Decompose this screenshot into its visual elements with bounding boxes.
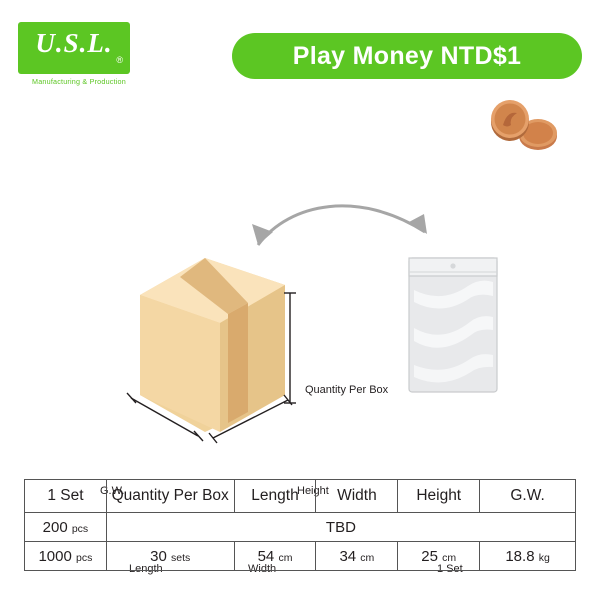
height-value: 25	[421, 548, 438, 565]
set-value: 1000	[38, 548, 71, 565]
width-unit: cm	[360, 552, 374, 564]
logo-badge: U.S.L. ®	[18, 22, 130, 74]
header-width: Width	[316, 480, 398, 513]
length-unit: cm	[278, 552, 292, 564]
width-value: 34	[339, 548, 356, 565]
set-value: 200	[43, 519, 68, 536]
header-gw: G.W.	[480, 480, 576, 513]
cell-set-count: 200 pcs	[25, 513, 107, 542]
length-value: 54	[258, 548, 275, 565]
cell-tbd: TBD	[106, 513, 575, 542]
cell-gw: 18.8 kg	[480, 542, 576, 571]
cell-height: 25 cm	[398, 542, 480, 571]
height-unit: cm	[442, 552, 456, 564]
table-header-row: 1 Set Quantity Per Box Length Width Heig…	[25, 480, 576, 513]
table-row: 200 pcs TBD	[25, 513, 576, 542]
page-title: Play Money NTD$1	[232, 33, 582, 79]
specification-table: 1 Set Quantity Per Box Length Width Heig…	[24, 479, 576, 571]
coins-icon	[486, 92, 572, 154]
gw-unit: kg	[539, 552, 550, 564]
product-illustration: Quantity Per Box G.W. Height Length Widt…	[0, 160, 600, 460]
table-row: 1000 pcs 30 sets 54 cm 34 cm 25 cm 18.8 …	[25, 542, 576, 571]
cell-width: 34 cm	[316, 542, 398, 571]
header-length: Length	[234, 480, 316, 513]
company-logo: U.S.L. ® Manufacturing & Production	[18, 22, 140, 86]
header-height: Height	[398, 480, 480, 513]
cell-set-count: 1000 pcs	[25, 542, 107, 571]
cell-length: 54 cm	[234, 542, 316, 571]
set-unit: pcs	[72, 523, 88, 535]
logo-name: U.S.L.	[18, 28, 130, 59]
qpb-value: 30	[150, 548, 167, 565]
qpb-unit: sets	[171, 552, 190, 564]
set-unit: pcs	[76, 552, 92, 564]
gw-value: 18.8	[505, 548, 534, 565]
header-1set: 1 Set	[25, 480, 107, 513]
registered-mark-icon: ®	[116, 55, 123, 65]
quantity-per-box-label: Quantity Per Box	[305, 384, 388, 396]
header-quantity-per-box: Quantity Per Box	[106, 480, 234, 513]
cell-quantity-per-box: 30 sets	[106, 542, 234, 571]
logo-tagline: Manufacturing & Production	[18, 77, 140, 86]
